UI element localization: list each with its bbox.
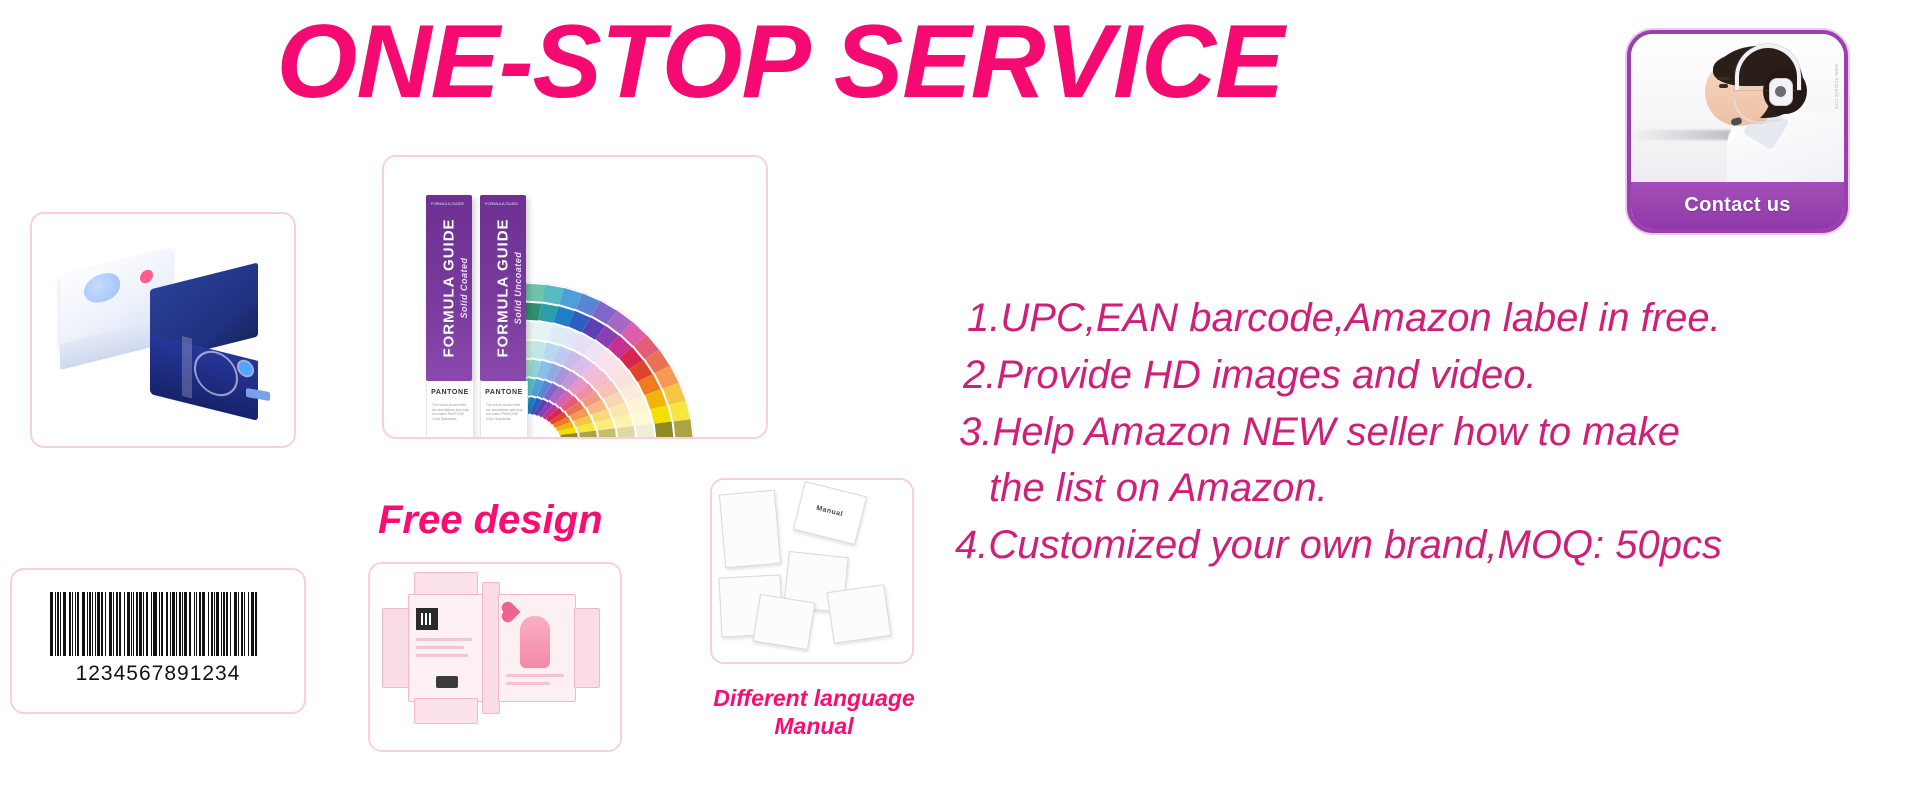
- barcode-bar: [116, 592, 118, 656]
- pantone-swatch: [674, 419, 694, 439]
- barcode-bar: [241, 592, 243, 656]
- agent-photo: www.hicpack.com: [1631, 34, 1844, 182]
- barcode-bar: [131, 592, 132, 656]
- barcode-bar: [127, 592, 130, 656]
- barcode-bar: [95, 592, 96, 656]
- dieline-card: [368, 562, 622, 752]
- barcode-bar: [82, 592, 85, 656]
- dieline-illustration: [370, 564, 620, 750]
- qr-code-icon: [416, 608, 438, 630]
- barcode-bar: [89, 592, 91, 656]
- barcode-bar: [63, 592, 66, 656]
- barcode-bar: [72, 592, 73, 656]
- feature-item-2: 2.Provide HD images and video.: [963, 347, 1915, 404]
- free-design-label: Free design: [378, 498, 603, 543]
- photo-watermark: www.hicpack.com: [1833, 64, 1839, 110]
- barcode-bar: [226, 592, 228, 656]
- barcode-bar: [159, 592, 160, 656]
- barcode-bar: [216, 592, 219, 656]
- barcode-bars: [50, 592, 266, 656]
- guide-title-coated: FORMULA GUIDE: [441, 218, 458, 357]
- barcode-bar: [69, 592, 71, 656]
- feature-item-3: 3.Help Amazon NEW seller how to make: [959, 404, 1915, 461]
- pantone-guide-coated: FORMULA GUIDE FORMULA GUIDE Solid Coated: [426, 195, 472, 381]
- feature-list: 1.UPC,EAN barcode,Amazon label in free. …: [955, 290, 1915, 574]
- pantone-guide-card: FORMULA GUIDE FORMULA GUIDE Solid Coated…: [382, 155, 768, 439]
- pantone-swatch: [579, 431, 599, 439]
- contact-us-label: Contact us: [1684, 194, 1790, 217]
- barcode-bar: [153, 592, 157, 656]
- barcode-number: 1234567891234: [12, 662, 304, 686]
- agent-eye: [1719, 84, 1728, 88]
- pantone-fineprint-coated: The colors shown here are simulations an…: [432, 403, 469, 421]
- manual-caption-line2: Manual: [664, 712, 964, 740]
- pantone-swatch: [560, 433, 580, 439]
- barcode-bar: [214, 592, 215, 656]
- barcode-bar: [50, 592, 53, 656]
- dieline-left-flap: [382, 608, 410, 688]
- barcode-bar: [251, 592, 254, 656]
- barcode-bar: [87, 592, 88, 656]
- barcode-bar: [172, 592, 175, 656]
- gift-box-card: [30, 212, 296, 448]
- barcode-bar: [255, 592, 257, 656]
- manual-caption: Different language Manual: [664, 684, 964, 740]
- guide-sub-coated: Solid Coated: [459, 257, 469, 318]
- manual-sheet: [753, 594, 816, 650]
- barcode-bar: [196, 592, 197, 656]
- barcode-bar: [199, 592, 201, 656]
- pantone-swatch: [617, 426, 637, 439]
- feature-item-4: 4.Customized your own brand,MOQ: 50pcs: [955, 517, 1915, 574]
- pantone-brand-coated: PANTONE: [427, 389, 473, 396]
- manual-sheet: [827, 584, 892, 644]
- poster-canvas: ONE-STOP SERVICE www.hicpack.com Contact…: [0, 0, 1920, 800]
- manual-card: Manual: [710, 478, 914, 664]
- barcode-bar: [92, 592, 93, 656]
- barcode-bar: [221, 592, 222, 656]
- barcode-bar: [223, 592, 225, 656]
- barcode-bar: [179, 592, 181, 656]
- barcode-bar: [189, 592, 191, 656]
- barcode-bar: [119, 592, 121, 656]
- barcode-bar: [176, 592, 177, 656]
- barcode-bar: [146, 592, 148, 656]
- barcode-bar: [244, 592, 245, 656]
- barcode-bar: [161, 592, 163, 656]
- barcode-bar: [139, 592, 142, 656]
- barcode-bar: [182, 592, 183, 656]
- pantone-brand-uncoated: PANTONE: [481, 389, 527, 396]
- contact-us-button[interactable]: Contact us: [1631, 182, 1844, 229]
- dieline-right-flap: [574, 608, 600, 688]
- box-highlight: [182, 336, 192, 398]
- barcode-bar: [143, 592, 144, 656]
- pantone-guide-uncoated: FORMULA GUIDE FORMULA GUIDE Solid Uncoat…: [480, 195, 526, 381]
- pantone-fineprint-uncoated: The colors shown here are simulations an…: [486, 403, 523, 421]
- guide-title-uncoated: FORMULA GUIDE: [495, 218, 512, 357]
- pantone-swatch: [598, 428, 618, 439]
- barcode-bar: [248, 592, 249, 656]
- barcode-bar: [234, 592, 237, 656]
- barcode-bar: [113, 592, 114, 656]
- barcode-label-card: 1234567891234: [10, 568, 306, 714]
- feature-item-3-cont: the list on Amazon.: [989, 460, 1915, 517]
- barcode-bar: [133, 592, 134, 656]
- barcode-bar: [60, 592, 61, 656]
- barcode-bar: [57, 592, 59, 656]
- pantone-illustration: FORMULA GUIDE FORMULA GUIDE Solid Coated…: [384, 157, 766, 437]
- guide-top-note: FORMULA GUIDE: [431, 201, 464, 206]
- feature-item-1: 1.UPC,EAN barcode,Amazon label in free.: [967, 290, 1915, 347]
- dieline-text-line: [416, 638, 472, 641]
- barcode-bar: [75, 592, 76, 656]
- barcode-bar: [238, 592, 239, 656]
- manual-illustration: Manual: [712, 480, 912, 662]
- pantone-foot-coated: PANTONE The colors shown here are simula…: [426, 381, 474, 439]
- barcode-bar: [124, 592, 125, 656]
- dieline-logo: [436, 676, 458, 688]
- barcode-bar: [194, 592, 195, 656]
- barcode-bar: [202, 592, 205, 656]
- barcode-bar: [109, 592, 112, 656]
- barcode-bar: [211, 592, 213, 656]
- page-title: ONE-STOP SERVICE: [0, 8, 1560, 117]
- dieline-text-line: [416, 646, 464, 649]
- guide-sub-uncoated: Solid Uncoated: [513, 252, 523, 325]
- barcode-bar: [55, 592, 56, 656]
- barcode-bar: [105, 592, 106, 656]
- dieline-text-line: [416, 654, 468, 657]
- barcode-bar: [230, 592, 231, 656]
- barcode-bar: [151, 592, 152, 656]
- dieline-text-line: [506, 682, 550, 685]
- pantone-foot-uncoated: PANTONE The colors shown here are simula…: [480, 381, 528, 439]
- barcode-bar: [184, 592, 187, 656]
- barcode-bar: [136, 592, 138, 656]
- barcode-bar: [166, 592, 168, 656]
- pantone-swatch: [636, 424, 656, 439]
- barcode-bar: [97, 592, 100, 656]
- dieline-bottom-tab: [414, 698, 478, 724]
- guide-top-note-2: FORMULA GUIDE: [485, 201, 518, 206]
- contact-us-badge[interactable]: www.hicpack.com Contact us: [1627, 30, 1848, 233]
- gift-box-illustration: [32, 214, 294, 446]
- agent-eyebrow: [1717, 77, 1730, 80]
- dieline-product-art: [520, 616, 550, 668]
- barcode-bar: [170, 592, 171, 656]
- barcode-bar: [208, 592, 209, 656]
- manual-caption-line1: Different language: [664, 684, 964, 712]
- pantone-swatch: [655, 422, 675, 439]
- dieline-text-line: [506, 674, 564, 677]
- barcode-bar: [101, 592, 103, 656]
- barcode-bar: [77, 592, 79, 656]
- manual-sheet: [719, 490, 781, 569]
